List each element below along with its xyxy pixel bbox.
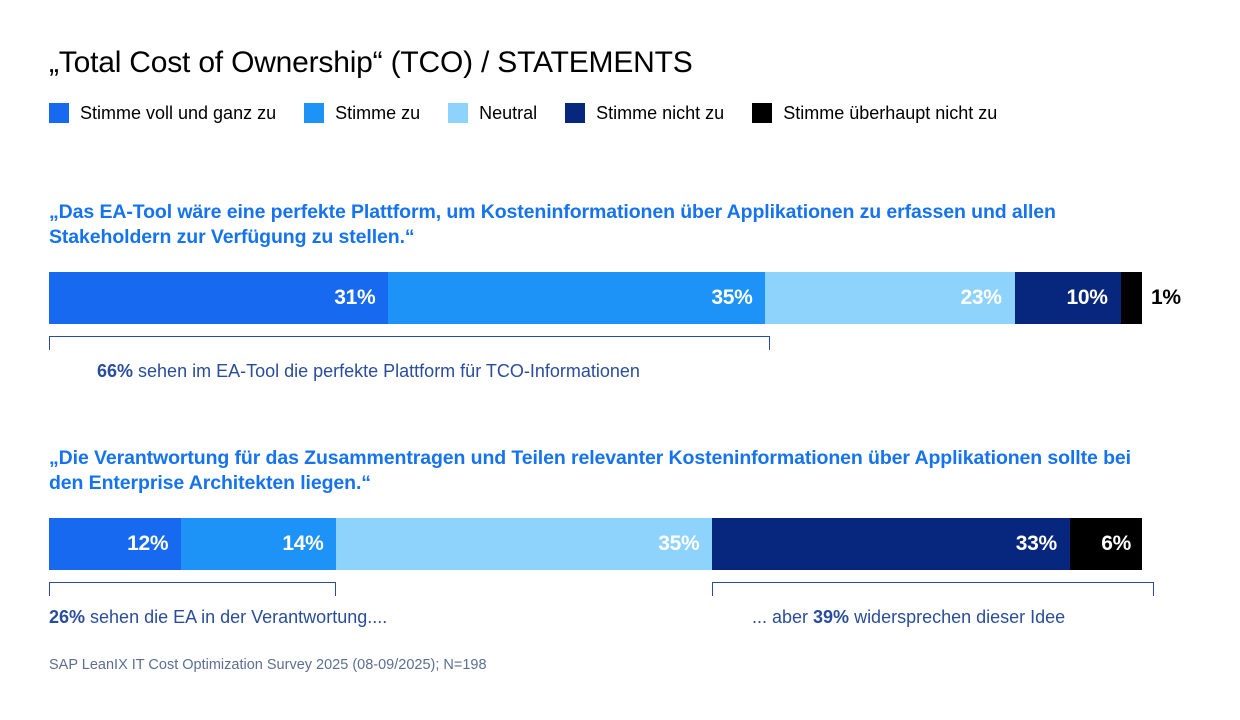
page-title: „Total Cost of Ownership“ (TCO) / STATEM…	[49, 44, 693, 82]
statement-heading-2: „Die Verantwortung für das Zusammentrage…	[49, 446, 1154, 496]
legend-item-neutral: Neutral	[448, 103, 537, 123]
legend-label-neutral: Neutral	[479, 103, 537, 123]
bar-segment-neutral-2[interactable]: 35%	[336, 518, 712, 570]
bracket-statement-2-right	[712, 582, 1154, 596]
legend-item-strongly-agree: Stimme voll und ganz zu	[49, 103, 276, 123]
legend-label-disagree: Stimme nicht zu	[596, 103, 724, 123]
legend-label-strongly-disagree: Stimme überhaupt nicht zu	[783, 103, 997, 123]
bar-segment-disagree-2[interactable]: 33%	[712, 518, 1069, 570]
statement-block-2: „Die Verantwortung für das Zusammentrage…	[49, 446, 1194, 496]
legend-swatch-icon-neutral	[448, 103, 468, 123]
bar-segment-strongly-agree-1[interactable]: 31%	[49, 272, 388, 324]
bar-segment-label-strongly-agree-2: 12%	[127, 532, 168, 556]
annotation-text-2a: sehen die EA in der Verantwortung....	[85, 607, 387, 627]
legend-item-strongly-disagree: Stimme überhaupt nicht zu	[752, 103, 997, 123]
legend-swatch-icon-agree	[304, 103, 324, 123]
annotation-text-2b: widersprechen dieser Idee	[849, 607, 1065, 627]
legend-item-disagree: Stimme nicht zu	[565, 103, 724, 123]
legend-swatch-icon-disagree	[565, 103, 585, 123]
bar-segment-strongly-agree-2[interactable]: 12%	[49, 518, 181, 570]
statement-block-1: „Das EA-Tool wäre eine perfekte Plattfor…	[49, 200, 1194, 250]
bar-segment-neutral-1[interactable]: 23%	[765, 272, 1014, 324]
legend-label-agree: Stimme zu	[335, 103, 420, 123]
bar-segment-label-agree-2: 14%	[282, 532, 323, 556]
bar-segment-strongly-disagree-2[interactable]: 6%	[1070, 518, 1142, 570]
bar-segment-label-strongly-agree-1: 31%	[334, 286, 375, 310]
bar-segment-strongly-disagree-1[interactable]: 1%	[1121, 272, 1142, 324]
stacked-bar-statement-1: 31% 35% 23% 10% 1%	[49, 272, 1142, 324]
bar-segment-label-agree-1: 35%	[711, 286, 752, 310]
bar-segment-disagree-1[interactable]: 10%	[1015, 272, 1121, 324]
bar-segment-agree-2[interactable]: 14%	[181, 518, 336, 570]
statement-heading-1: „Das EA-Tool wäre eine perfekte Plattfor…	[49, 200, 1154, 250]
legend-item-agree: Stimme zu	[304, 103, 420, 123]
bracket-statement-1	[49, 336, 770, 350]
legend-swatch-icon-strongly-disagree	[752, 103, 772, 123]
annotation-prefix-2b: ... aber	[752, 607, 813, 627]
annotation-value-39: 39%	[813, 607, 849, 627]
annotation-value-26: 26%	[49, 607, 85, 627]
bar-segment-label-strongly-disagree-2: 6%	[1101, 532, 1131, 556]
annotation-text-1: sehen im EA-Tool die perfekte Plattform …	[133, 361, 640, 381]
chart-page: „Total Cost of Ownership“ (TCO) / STATEM…	[0, 0, 1240, 720]
bar-segment-label-disagree-1: 10%	[1067, 286, 1108, 310]
annotation-statement-1: 66% sehen im EA-Tool die perfekte Plattf…	[97, 359, 640, 383]
stacked-bar-statement-2: 12% 14% 35% 33% 6%	[49, 518, 1142, 570]
source-footnote: SAP LeanIX IT Cost Optimization Survey 2…	[49, 655, 487, 675]
bar-segment-label-disagree-2: 33%	[1016, 532, 1057, 556]
bracket-statement-2-left	[49, 582, 336, 596]
legend-label-strongly-agree: Stimme voll und ganz zu	[80, 103, 276, 123]
bar-segment-label-neutral-1: 23%	[961, 286, 1002, 310]
bar-segment-agree-1[interactable]: 35%	[388, 272, 765, 324]
legend: Stimme voll und ganz zu Stimme zu Neutra…	[49, 101, 997, 125]
bar-segment-outside-label-strongly-disagree-1: 1%	[1151, 272, 1181, 324]
annotation-value-66: 66%	[97, 361, 133, 381]
legend-swatch-icon-strongly-agree	[49, 103, 69, 123]
annotation-statement-2-right: ... aber 39% widersprechen dieser Idee	[752, 605, 1065, 629]
annotation-statement-2-left: 26% sehen die EA in der Verantwortung...…	[49, 605, 387, 629]
bar-segment-label-neutral-2: 35%	[658, 532, 699, 556]
